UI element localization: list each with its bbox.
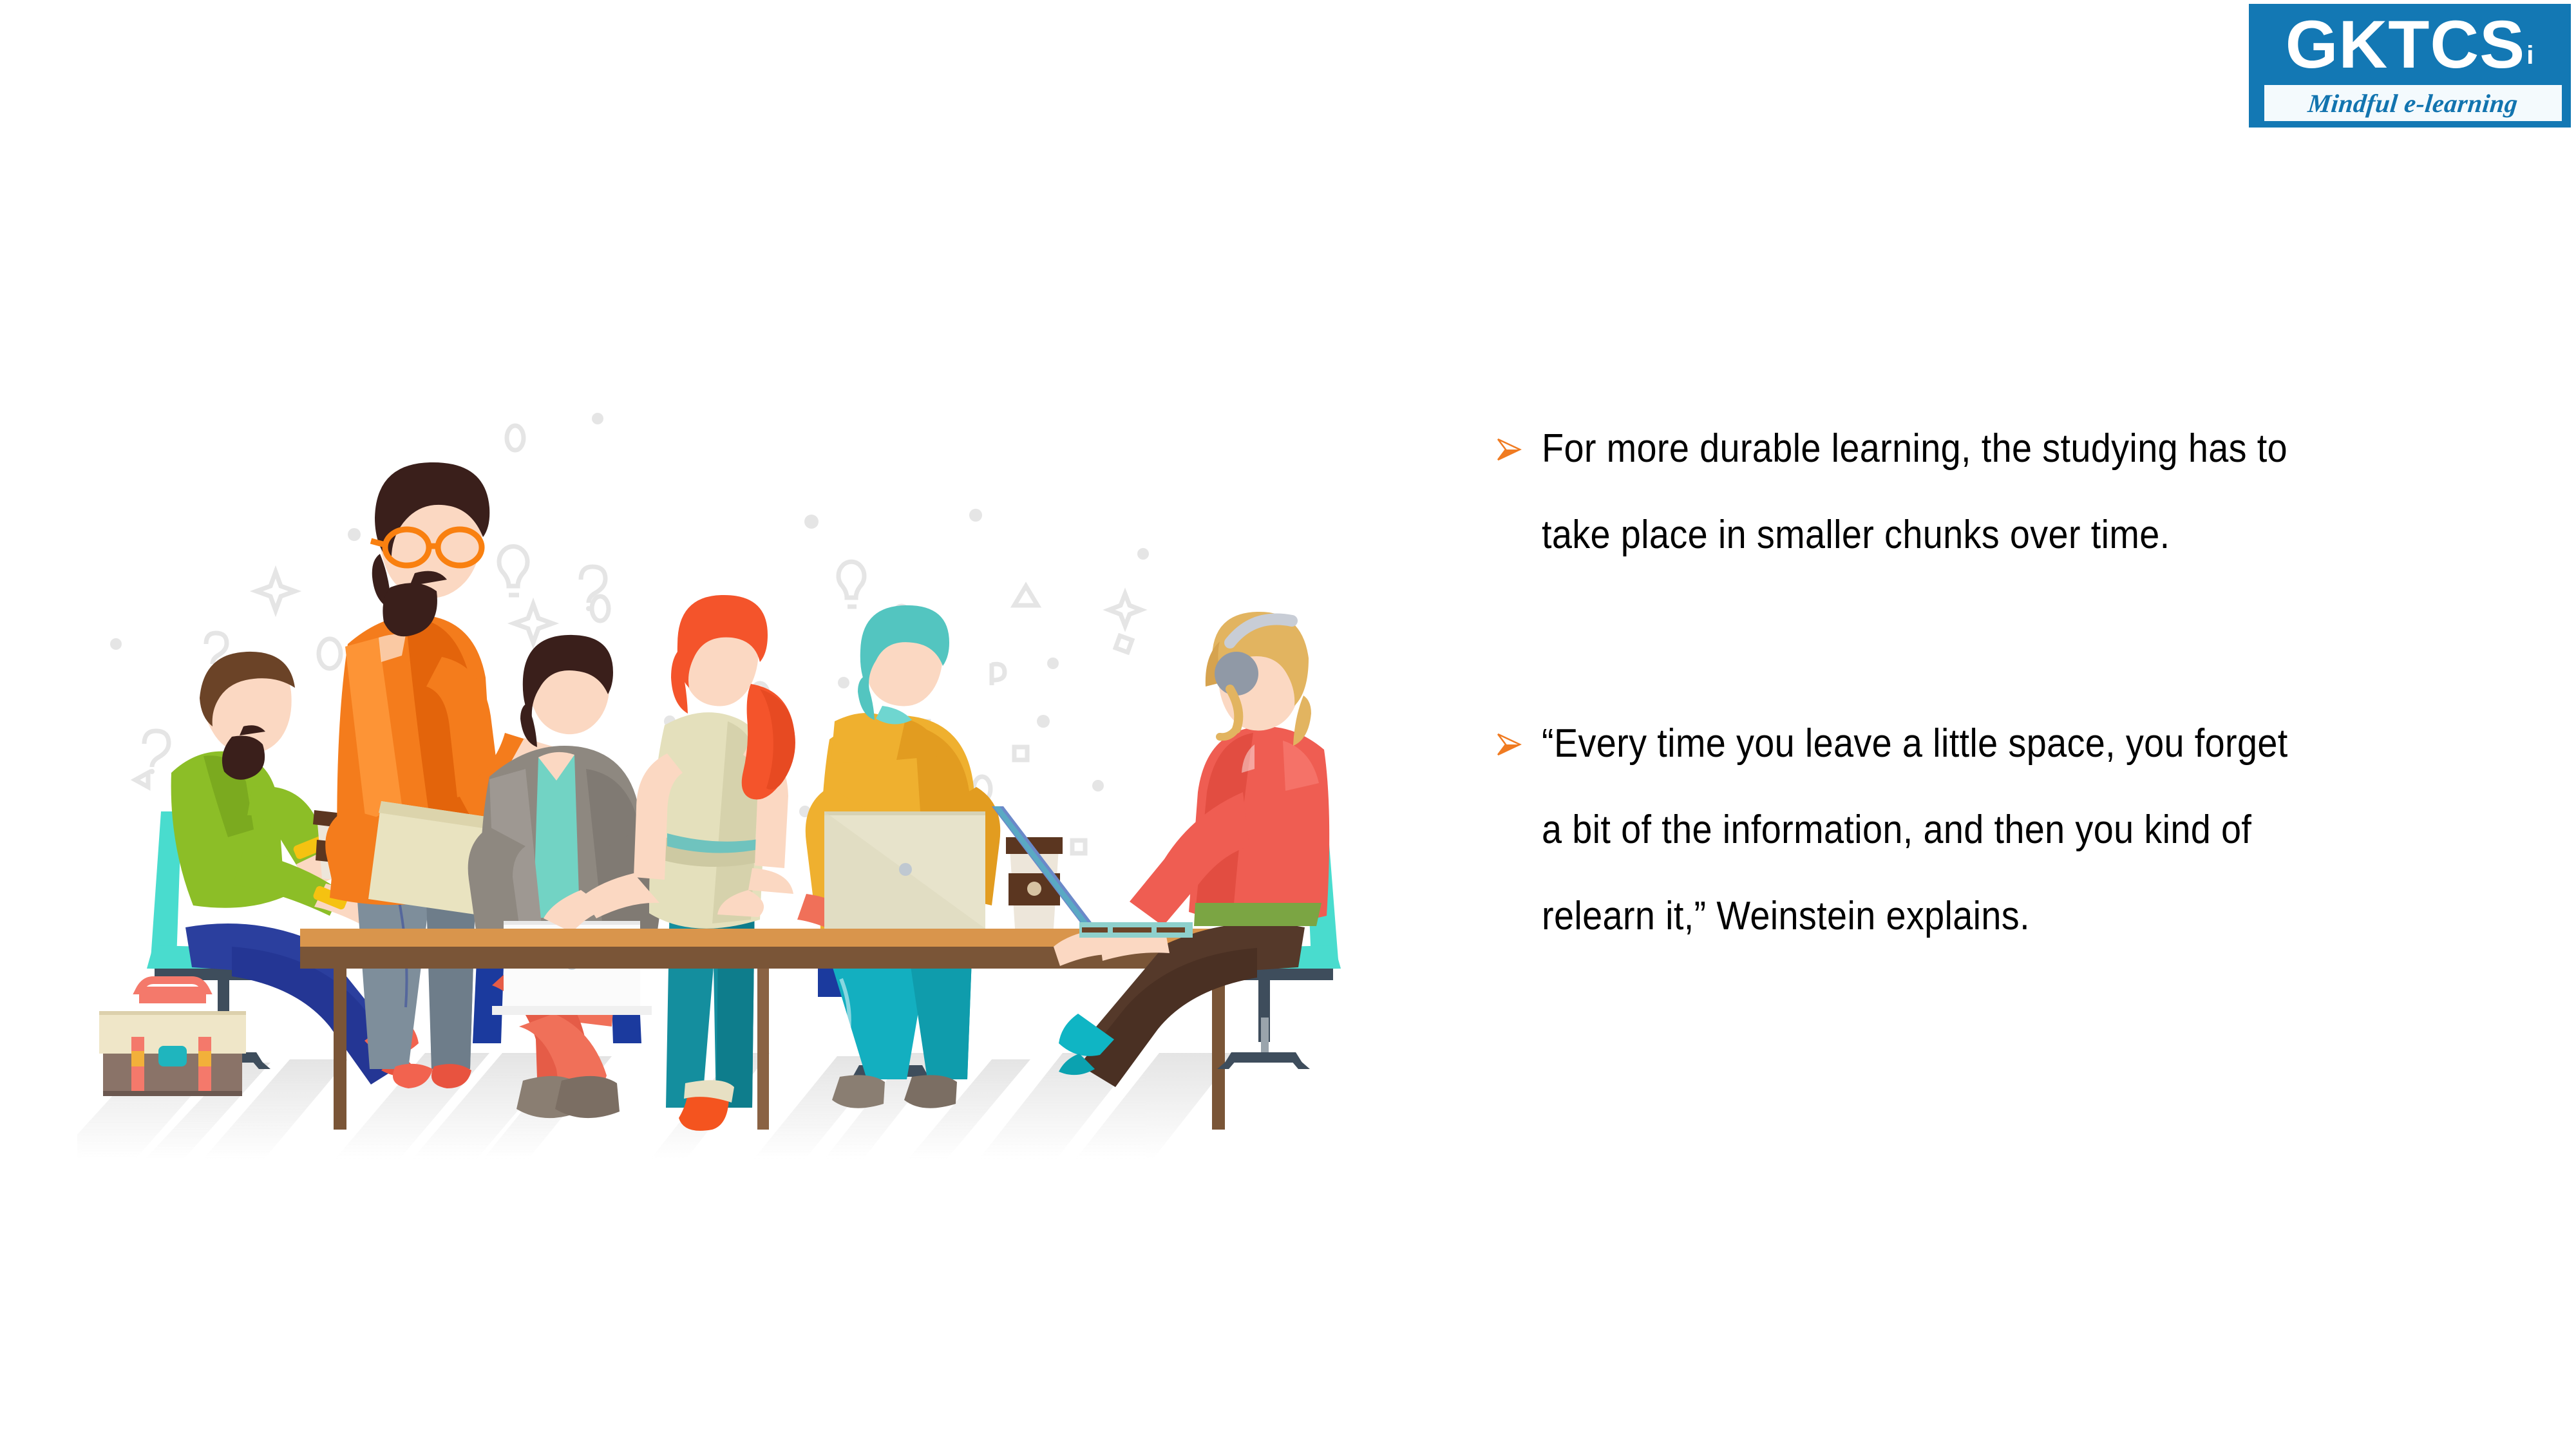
laptop-beige-center: [813, 811, 997, 939]
logo-brand-wordmark: GKTCSi: [2249, 6, 2571, 82]
bullet-text-2: “Every time you leave a little space, yo…: [1542, 701, 2310, 960]
bullet-list: For more durable learning, the studying …: [1494, 406, 2396, 979]
logo-brand-subscript: i: [2526, 43, 2534, 68]
logo-tagline: Mindful e-learning: [2307, 88, 2520, 118]
logo-brand-text: GKTCS: [2286, 11, 2526, 79]
bullet-item-2: “Every time you leave a little space, yo…: [1494, 701, 2396, 960]
gktcs-logo: GKTCSi Mindful e-learning: [2249, 4, 2571, 128]
logo-tagline-strip: Mindful e-learning: [2264, 85, 2562, 121]
person-seated-man-yellow-hoodie: [797, 605, 1000, 1108]
bullet-chevron-arrow-icon: [1494, 406, 1542, 578]
team-collaboration-illustration: [77, 361, 1455, 1159]
bullet-text-1: For more durable learning, the studying …: [1542, 406, 2310, 578]
bullet-item-1: For more durable learning, the studying …: [1494, 406, 2396, 578]
bullet-chevron-arrow-icon: [1494, 701, 1542, 960]
slide-canvas: GKTCSi Mindful e-learning: [0, 0, 2576, 1449]
